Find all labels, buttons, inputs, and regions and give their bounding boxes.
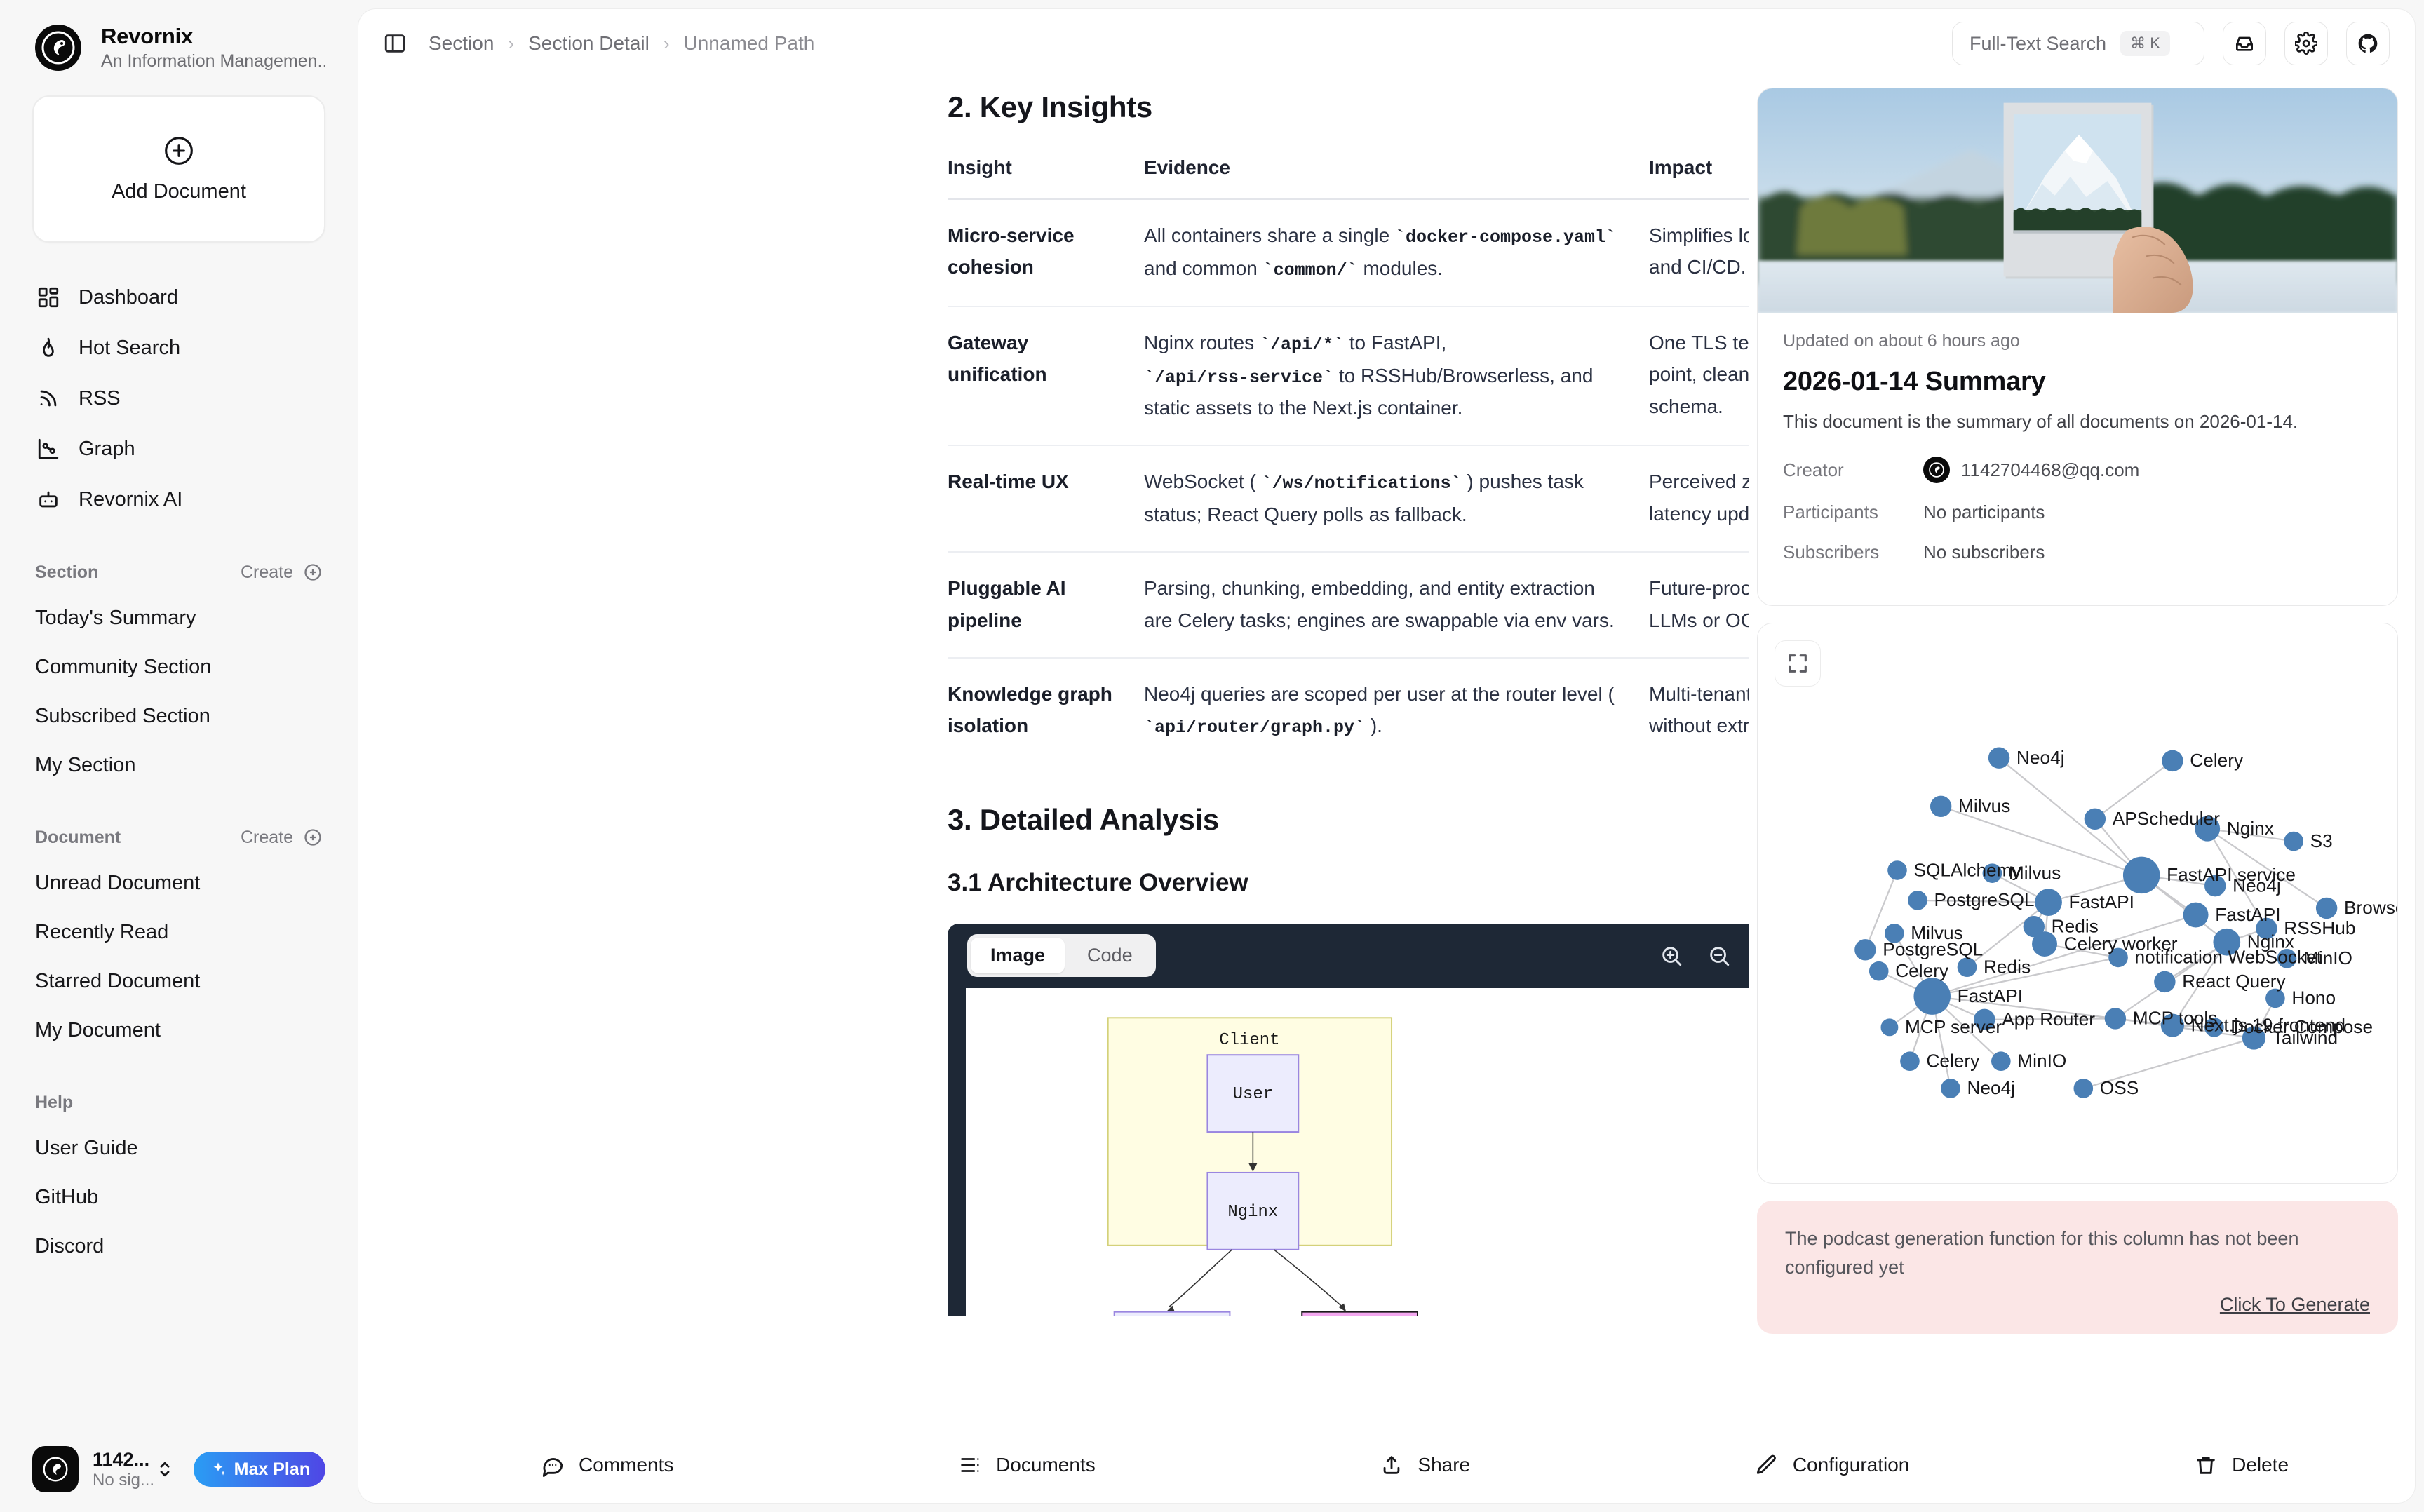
graph-node[interactable] <box>1930 796 1951 817</box>
search-placeholder: Full-Text Search <box>1969 33 2106 55</box>
graph-node[interactable] <box>2183 903 2209 928</box>
avatar <box>32 1446 79 1492</box>
sidebar-item-hot-search[interactable]: Hot Search <box>32 323 325 373</box>
cell-insight: Gateway unification <box>948 306 1144 445</box>
mermaid-diagram: Client User Nginx <box>966 988 1749 1316</box>
meta-label: Creator <box>1783 459 1923 481</box>
group-title: Help <box>35 1093 73 1113</box>
brand-tagline: An Information Managemen... <box>101 51 325 72</box>
create-label: Create <box>241 562 293 583</box>
search-shortcut-badge: ⌘ K <box>2120 31 2170 56</box>
podcast-notice: The podcast generation function for this… <box>1757 1201 2398 1334</box>
app-root: Revornix An Information Managemen... Add… <box>0 0 2424 1512</box>
summary-card: Updated on about 6 hours ago 2026-01-14 … <box>1757 88 2398 606</box>
group-header: Section Create <box>32 555 325 593</box>
sidebar-item-dashboard[interactable]: Dashboard <box>32 272 325 323</box>
sidebar-item-recently-read[interactable]: Recently Read <box>32 907 325 957</box>
graph-node-label: Browserless <box>2344 897 2397 918</box>
breadcrumb-item-unnamed-path[interactable]: Unnamed Path <box>684 32 815 55</box>
inline-code: `common/` <box>1263 260 1358 281</box>
graph-node[interactable] <box>1988 748 2009 769</box>
sidebar-group-help: Help User Guide GitHub Discord <box>32 1086 325 1271</box>
button-label: Share <box>1418 1454 1470 1476</box>
graph-node-label: notification WebSocket <box>2135 947 2322 968</box>
comment-icon <box>541 1453 565 1477</box>
cell-impact: Multi-tenant safety without extra DBs. <box>1649 658 1749 764</box>
sidebar-item-todays-summary[interactable]: Today's Summary <box>32 593 325 642</box>
diagram-tools: Reset <box>1659 944 1749 968</box>
graph-node[interactable] <box>2154 971 2175 992</box>
cell-insight: Knowledge graph isolation <box>948 658 1144 764</box>
cell-evidence: WebSocket ( `/ws/notifications` ) pushes… <box>1144 445 1649 552</box>
graph-node-label: Hono <box>2291 987 2336 1008</box>
settings-button[interactable] <box>2284 22 2328 65</box>
sidebar-item-rss[interactable]: RSS <box>32 373 325 424</box>
plus-circle-icon <box>163 135 194 166</box>
graph-node[interactable] <box>2316 898 2337 919</box>
cell-insight: Micro-service cohesion <box>948 199 1144 306</box>
graph-node[interactable] <box>1887 860 1907 880</box>
table-row: Knowledge graph isolationNeo4j queries a… <box>948 658 1749 764</box>
cell-insight: Real-time UX <box>948 445 1144 552</box>
cell-impact: Future-proof for new LLMs or OCR libs. <box>1649 552 1749 658</box>
graph-node[interactable] <box>1854 939 1876 960</box>
sidebar-item-label: Graph <box>79 438 135 461</box>
graph-node[interactable] <box>2284 832 2303 851</box>
delete-button[interactable]: Delete <box>2194 1453 2289 1477</box>
knowledge-graph[interactable]: Neo4jCeleryMilvusAPSchedulerNginxSQLAlch… <box>1758 623 2397 1183</box>
graph-node-label: Celery <box>1926 1051 1980 1072</box>
user-bar[interactable]: 1142... No sig... Max Plan <box>32 1446 325 1492</box>
sidebar-item-user-guide[interactable]: User Guide <box>32 1123 325 1173</box>
sparkle-icon <box>209 1460 227 1478</box>
cell-evidence: Parsing, chunking, embedding, and entity… <box>1144 552 1649 658</box>
graph-labels: Neo4jCeleryMilvusAPSchedulerNginxSQLAlch… <box>1883 747 2397 1098</box>
graph-node-label: FastAPI <box>2215 904 2280 925</box>
sidebar: Revornix An Information Managemen... Add… <box>0 0 358 1512</box>
plus-circle-icon <box>303 562 323 582</box>
graph-node-label: Neo4j <box>1967 1077 2015 1098</box>
graph-node-label: SQLAlchemy <box>1913 859 2021 880</box>
dashboard-icon <box>35 284 62 311</box>
graph-node-label: FastAPI <box>2069 891 2134 912</box>
cell-evidence: Neo4j queries are scoped per user at the… <box>1144 658 1649 764</box>
revornix-logo-icon <box>35 25 81 71</box>
inbox-icon <box>2233 32 2256 55</box>
key-insights-table: Insight Evidence Impact Micro-service co… <box>948 156 1749 764</box>
meta-row-subscribers: Subscribers No subscribers <box>1783 541 2372 563</box>
svg-text:Nginx: Nginx <box>1227 1203 1278 1222</box>
breadcrumb-item-section[interactable]: Section <box>429 32 494 55</box>
chevron-up-down-icon[interactable] <box>153 1457 177 1481</box>
brand-title: Revornix <box>101 24 325 49</box>
add-document-label: Add Document <box>112 180 246 203</box>
trash-icon <box>2194 1453 2218 1477</box>
meta-label: Subscribers <box>1783 541 1923 563</box>
topbar: Section › Section Detail › Unnamed Path … <box>358 9 2415 78</box>
summary-title: 2026-01-14 Summary <box>1783 367 2372 397</box>
breadcrumb-item-section-detail[interactable]: Section Detail <box>528 32 649 55</box>
user-signature: No sig... <box>93 1471 139 1490</box>
tab-image[interactable]: Image <box>971 938 1065 973</box>
plan-label: Max Plan <box>234 1459 310 1480</box>
graph-node-label: FastAPI <box>1958 985 2023 1006</box>
zoom-out-icon[interactable] <box>1707 944 1731 968</box>
graph-node-label: Redis <box>1984 956 2031 977</box>
svg-text:User: User <box>1233 1085 1274 1104</box>
button-label: Configuration <box>1793 1454 1910 1476</box>
graph-node-label: OSS <box>2100 1077 2139 1098</box>
graph-node[interactable] <box>2073 1079 2093 1098</box>
sidebar-item-unread-document[interactable]: Unread Document <box>32 858 325 907</box>
column-header-insight: Insight <box>948 156 1144 199</box>
breadcrumb-separator: › <box>664 33 670 55</box>
sidebar-item-github[interactable]: GitHub <box>32 1173 325 1222</box>
graph-node[interactable] <box>2035 889 2062 916</box>
inline-code: `docker-compose.yaml` <box>1395 227 1616 248</box>
graph-node-label: React Query <box>2182 971 2286 992</box>
sidebar-item-label: RSS <box>79 387 121 410</box>
graph-node-label: Celery <box>1895 960 1949 981</box>
graph-node-label: S3 <box>2310 830 2333 851</box>
flame-icon <box>35 335 62 361</box>
search-input[interactable]: Full-Text Search ⌘ K <box>1952 22 2204 65</box>
main-pane: Section › Section Detail › Unnamed Path … <box>358 8 2416 1504</box>
graph-node-label: Neo4j <box>2016 747 2065 768</box>
knowledge-graph-card[interactable]: Neo4jCeleryMilvusAPSchedulerNginxSQLAlch… <box>1757 623 2398 1184</box>
table-row: Micro-service cohesionAll containers sha… <box>948 199 1749 306</box>
diagram-canvas[interactable]: Client User Nginx <box>966 988 1749 1316</box>
plus-circle-icon <box>303 828 323 847</box>
expand-icon[interactable] <box>1775 640 1821 687</box>
graph-node-label: RSSHub <box>2284 917 2355 938</box>
graph-node[interactable] <box>1913 978 1951 1015</box>
sidebar-item-subscribed-section[interactable]: Subscribed Section <box>32 691 325 741</box>
sidebar-item-label: Revornix AI <box>79 488 182 511</box>
graph-node-label: Nginx <box>2227 818 2274 839</box>
diagram-view-tabs: Image Code <box>967 934 1156 977</box>
meta-label: Participants <box>1783 501 1923 523</box>
creator-email: 1142704468@qq.com <box>1961 459 2139 481</box>
graph-node-label: PostgreSQL <box>1934 889 2034 910</box>
right-rail: Updated on about 6 hours ago 2026-01-14 … <box>1749 78 2415 1503</box>
graph-node-label: Milvus <box>1958 795 2010 816</box>
zoom-in-icon[interactable] <box>1659 944 1683 968</box>
graph-node[interactable] <box>1880 1018 1898 1036</box>
graph-node-label: Milvus <box>2009 862 2061 883</box>
meta-value: No participants <box>1923 501 2045 523</box>
updated-timestamp: Updated on about 6 hours ago <box>1783 331 2372 351</box>
section-heading-detailed-analysis: 3. Detailed Analysis <box>948 803 1749 837</box>
table-row: Real-time UXWebSocket ( `/ws/notificatio… <box>948 445 1749 552</box>
column-header-impact: Impact <box>1649 156 1749 199</box>
cell-evidence: All containers share a single `docker-co… <box>1144 199 1649 306</box>
meta-value: No subscribers <box>1923 541 2045 563</box>
podcast-message: The podcast generation function for this… <box>1785 1224 2370 1281</box>
inline-code: `/api/rss-service` <box>1144 367 1333 388</box>
sidebar-item-graph[interactable]: Graph <box>32 424 325 474</box>
summary-body: Updated on about 6 hours ago 2026-01-14 … <box>1758 313 2397 605</box>
document-content: 2. Key Insights Insight Evidence Impact … <box>948 78 1749 1316</box>
click-to-generate-link[interactable]: Click To Generate <box>2220 1294 2370 1315</box>
hero-image <box>1758 88 2397 313</box>
button-label: Documents <box>996 1454 1096 1476</box>
inbox-button[interactable] <box>2223 22 2266 65</box>
create-document-button[interactable]: Create <box>241 828 323 848</box>
graph-node-label: APScheduler <box>2113 808 2220 829</box>
share-icon <box>1380 1453 1403 1477</box>
graph-node[interactable] <box>1869 961 1889 981</box>
configuration-button[interactable]: Configuration <box>1755 1453 1910 1477</box>
graph-node-label: Celery <box>2190 750 2244 771</box>
inline-code: `/ws/notifications` <box>1262 473 1462 494</box>
inline-code: `/api/*` <box>1260 335 1344 355</box>
creator-avatar <box>1923 457 1950 483</box>
rss-icon <box>35 385 62 412</box>
column-header-evidence: Evidence <box>1144 156 1649 199</box>
gear-icon <box>2295 32 2317 55</box>
table-row: Pluggable AI pipelineParsing, chunking, … <box>948 552 1749 658</box>
breadcrumb: Section › Section Detail › Unnamed Path <box>429 32 814 55</box>
sidebar-item-discord[interactable]: Discord <box>32 1222 325 1271</box>
graph-icon <box>35 436 62 462</box>
graph-node[interactable] <box>1941 1079 1960 1098</box>
create-section-button[interactable]: Create <box>241 562 323 583</box>
max-plan-badge[interactable]: Max Plan <box>194 1452 325 1487</box>
svg-text:Client: Client <box>1219 1031 1279 1050</box>
inline-code: `api/router/graph.py` <box>1144 717 1365 738</box>
user-name: 1142... <box>93 1449 139 1471</box>
table-row: Gateway unificationNginx routes `/api/*`… <box>948 306 1749 445</box>
list-icon <box>958 1453 982 1477</box>
polaroid-mountain-photo <box>1758 88 2397 313</box>
cell-impact: One TLS termination point, clean URL sch… <box>1649 306 1749 445</box>
cell-evidence: Nginx routes `/api/*` to FastAPI, `/api/… <box>1144 306 1649 445</box>
diagram-viewer: Image Code <box>948 924 1749 1316</box>
graph-node-label: MCP server <box>1905 1016 2002 1037</box>
group-title: Document <box>35 828 121 848</box>
sidebar-group-document: Document Create Unread Document Recently… <box>32 821 325 1055</box>
podcast-cta-wrap: Click To Generate <box>1785 1294 2370 1316</box>
page-title: 2. Key Insights <box>948 90 1749 124</box>
cell-insight: Pluggable AI pipeline <box>948 552 1144 658</box>
create-label: Create <box>241 828 293 848</box>
group-header: Help <box>32 1086 325 1123</box>
share-button[interactable]: Share <box>1380 1453 1470 1477</box>
group-header: Document Create <box>32 821 325 858</box>
graph-node[interactable] <box>2085 809 2106 830</box>
brand[interactable]: Revornix An Information Managemen... <box>32 0 325 84</box>
meta-row-participants: Participants No participants <box>1783 501 2372 523</box>
graph-node-label: PostgreSQL <box>1883 939 1983 960</box>
sidebar-item-label: Dashboard <box>79 286 178 309</box>
content-body: 2. Key Insights Insight Evidence Impact … <box>358 78 2415 1503</box>
sidebar-item-revornix-ai[interactable]: Revornix AI <box>32 474 325 525</box>
sidebar-item-starred-document[interactable]: Starred Document <box>32 957 325 1006</box>
document-action-toolbar: Comments Documents Share Configuration D… <box>358 1426 2415 1503</box>
comments-button[interactable]: Comments <box>541 1453 673 1477</box>
button-label: Delete <box>2232 1454 2289 1476</box>
breadcrumb-separator: › <box>508 33 514 55</box>
panel-left-icon[interactable] <box>379 28 410 59</box>
table-header-row: Insight Evidence Impact <box>948 156 1749 199</box>
table-header: Insight Evidence Impact <box>948 156 1749 199</box>
document-scroll-area[interactable]: 2. Key Insights Insight Evidence Impact … <box>358 78 1749 1503</box>
button-label: Comments <box>579 1454 673 1476</box>
cell-impact: Perceived zero-latency updates. <box>1649 445 1749 552</box>
summary-description: This document is the summary of all docu… <box>1783 411 2372 433</box>
meta-row-creator: Creator 1142704468@qq.com <box>1783 457 2372 483</box>
graph-node[interactable] <box>2162 750 2183 771</box>
sidebar-item-my-section[interactable]: My Section <box>32 741 325 790</box>
group-title: Section <box>35 562 98 583</box>
graph-node[interactable] <box>2123 857 2160 894</box>
sidebar-group-section: Section Create Today's Summary Community… <box>32 555 325 790</box>
graph-node-label: Neo4j <box>2233 875 2281 896</box>
pencil-icon <box>1755 1453 1779 1477</box>
graph-node[interactable] <box>1991 1051 2011 1071</box>
robot-icon <box>35 486 62 513</box>
sidebar-item-my-document[interactable]: My Document <box>32 1006 325 1055</box>
graph-node-label: Tailwind <box>2272 1027 2338 1048</box>
sidebar-item-community-section[interactable]: Community Section <box>32 642 325 691</box>
github-icon <box>2357 32 2379 55</box>
cell-impact: Simplifies local dev and CI/CD. <box>1649 199 1749 306</box>
primary-nav: Dashboard Hot Search RSS Graph <box>32 272 325 525</box>
document-column: 2. Key Insights Insight Evidence Impact … <box>358 78 1749 1503</box>
graph-node-label: MinIO <box>2017 1051 2066 1072</box>
graph-node[interactable] <box>1908 891 1927 910</box>
github-button[interactable] <box>2346 22 2390 65</box>
graph-node-label: App Router <box>2002 1008 2095 1030</box>
meta-value: 1142704468@qq.com <box>1923 457 2139 483</box>
section-heading-architecture-overview: 3.1 Architecture Overview <box>948 869 1749 897</box>
documents-button[interactable]: Documents <box>958 1453 1096 1477</box>
graph-node[interactable] <box>1958 957 1977 977</box>
sidebar-item-label: Hot Search <box>79 337 180 360</box>
add-document-button[interactable]: Add Document <box>32 95 325 243</box>
diagram-toolbar: Image Code <box>948 924 1749 988</box>
table-body: Micro-service cohesionAll containers sha… <box>948 199 1749 764</box>
tab-code[interactable]: Code <box>1068 938 1152 973</box>
graph-node-label: MinIO <box>2303 947 2352 968</box>
graph-node[interactable] <box>1900 1051 1920 1071</box>
graph-node[interactable] <box>2105 1008 2126 1029</box>
